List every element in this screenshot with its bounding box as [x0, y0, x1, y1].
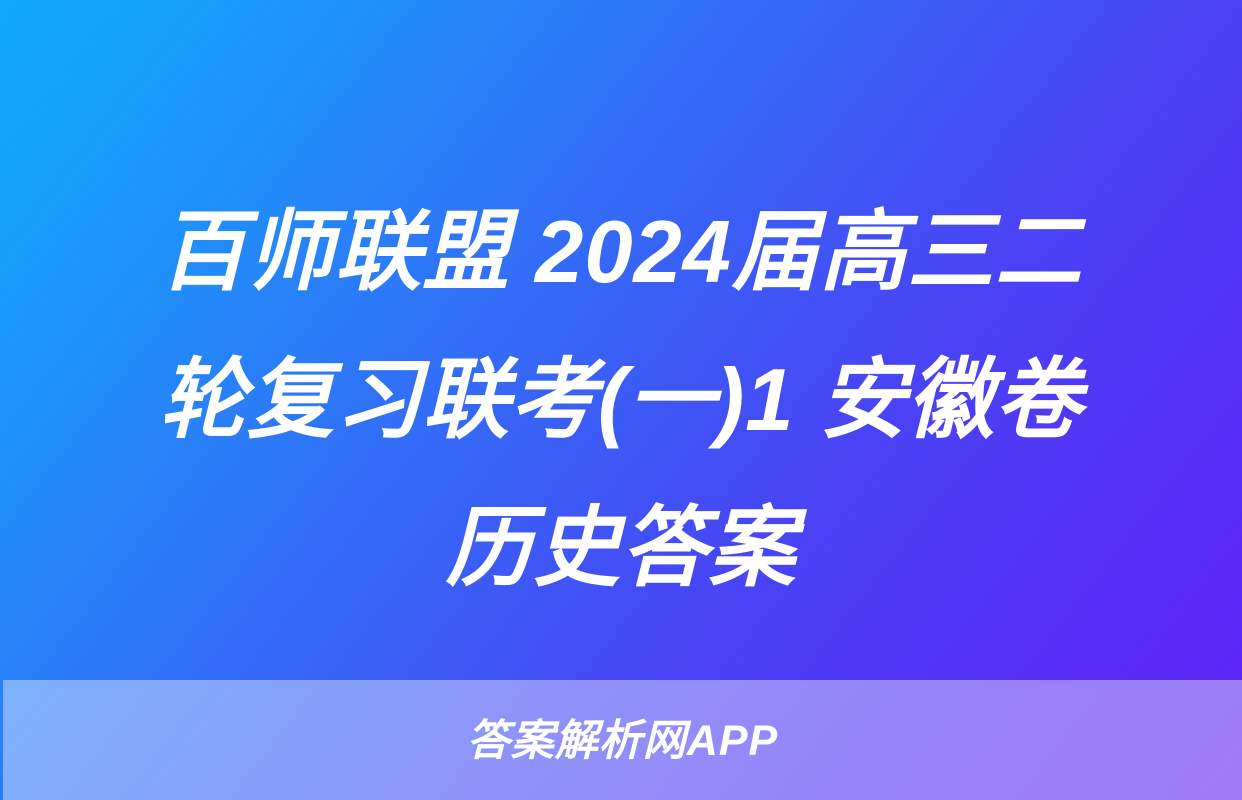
app-brand-label: 答案解析网APP — [467, 720, 778, 763]
title-line-2: 轮复习联考(一)1 安徽卷 — [49, 326, 1194, 474]
footer-banner: 答案解析网APP — [3, 680, 1242, 800]
title-line-1: 百师联盟 2024届高三二 — [49, 178, 1194, 326]
poster-card: 百师联盟 2024届高三二 轮复习联考(一)1 安徽卷 历史答案 答案解析网AP… — [0, 0, 1242, 800]
title-line-3: 历史答案 — [49, 474, 1194, 622]
page-title: 百师联盟 2024届高三二 轮复习联考(一)1 安徽卷 历史答案 — [0, 178, 1242, 622]
